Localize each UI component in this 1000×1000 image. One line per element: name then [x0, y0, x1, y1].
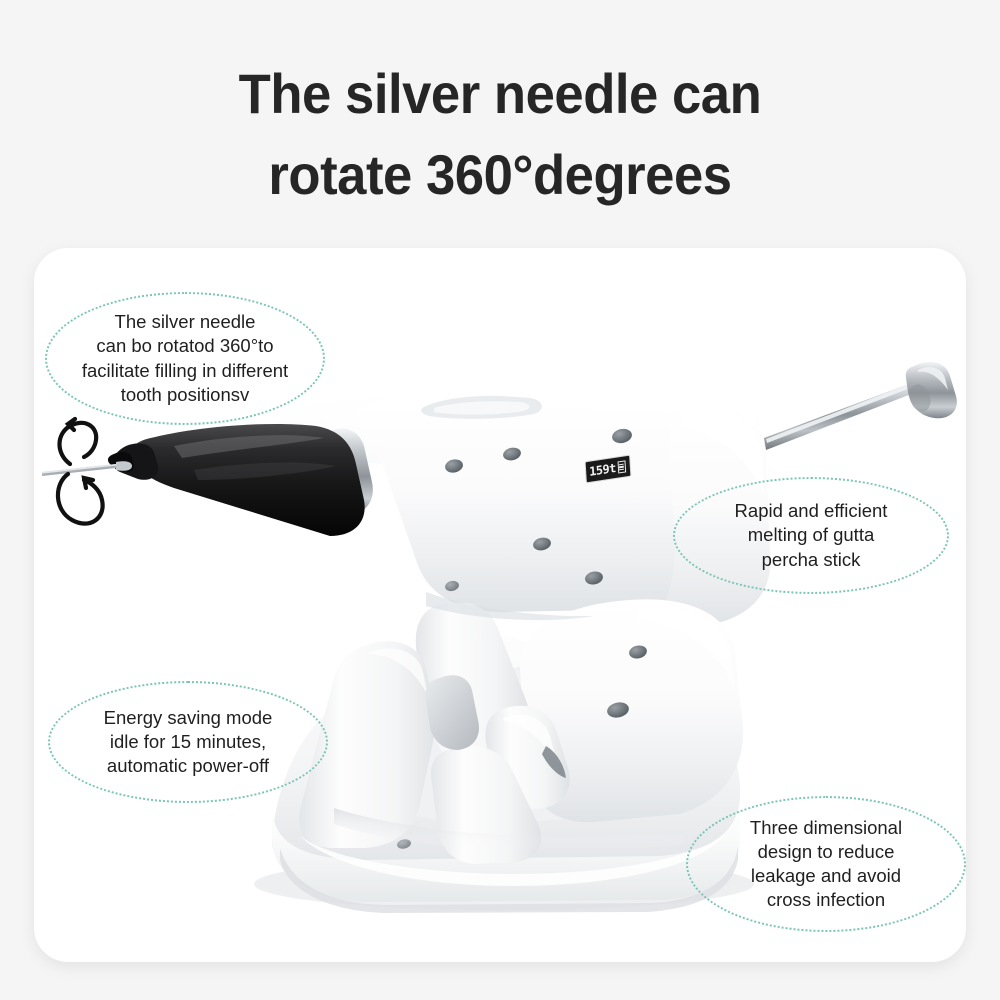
page-title-line-1: The silver needle can [30, 54, 970, 135]
page-title-line-2: rotate 360°degrees [30, 135, 970, 216]
callout-melting: Rapid and efficient melting of gutta per… [673, 477, 949, 594]
callout-rotate-text: The silver needle can bo rotatod 360°to … [74, 310, 296, 406]
callout-design: Three dimensional design to reduce leaka… [686, 796, 966, 932]
callout-rotate: The silver needle can bo rotatod 360°to … [45, 292, 325, 425]
callout-design-text: Three dimensional design to reduce leaka… [742, 816, 910, 912]
callout-energy: Energy saving mode idle for 15 minutes, … [48, 681, 328, 803]
battery-icon [617, 460, 626, 473]
callout-melting-text: Rapid and efficient melting of gutta per… [727, 499, 896, 571]
page-title: The silver needle can rotate 360°degrees [30, 54, 970, 215]
callout-energy-text: Energy saving mode idle for 15 minutes, … [96, 706, 281, 778]
temperature-value: 159t [589, 462, 616, 478]
